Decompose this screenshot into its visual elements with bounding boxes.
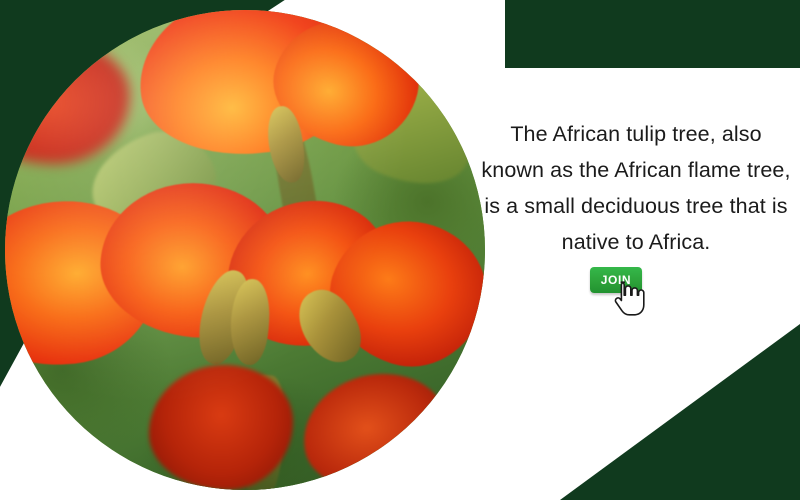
african-tulip-tree-flowers-photo [5, 10, 485, 490]
flower-bloom [5, 39, 130, 164]
join-button-area: JOIN [590, 267, 642, 293]
slide-canvas: The African tulip tree, also known as th… [0, 0, 800, 500]
decoration-bottom-right-triangle [560, 324, 800, 500]
flower-bloom [294, 363, 456, 490]
join-button[interactable]: JOIN [590, 267, 642, 293]
photo-background [5, 10, 485, 490]
body-text: The African tulip tree, also known as th… [478, 116, 794, 260]
decoration-top-right-bar [505, 0, 800, 68]
flower-bloom [149, 365, 293, 490]
